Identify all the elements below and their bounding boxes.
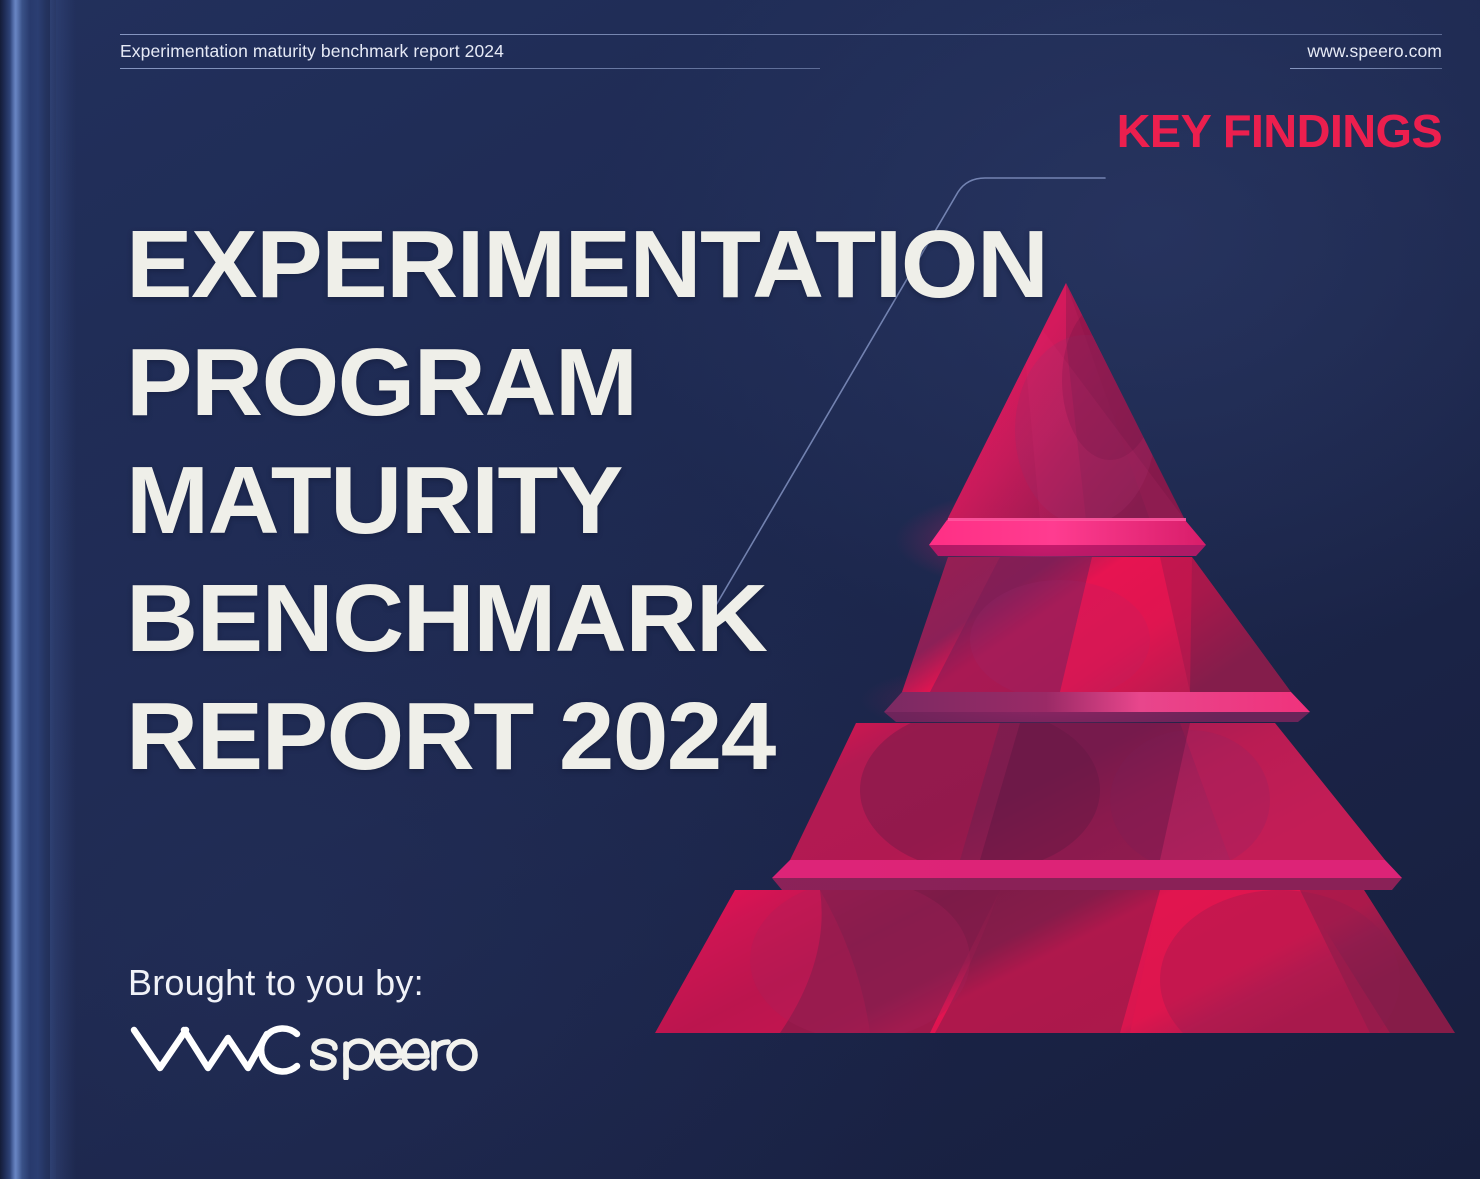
attribution-block: Brought to you by: [128,962,478,1085]
header-report-label: Experimentation maturity benchmark repor… [120,41,504,62]
vwo-logo [128,1018,304,1080]
title-line-1: EXPERIMENTATION [126,206,979,324]
book-spine-highlight [10,0,22,1179]
cover-header: Experimentation maturity benchmark repor… [120,28,1442,80]
book-spine-edge [50,0,76,1179]
header-rule-bottom-left [120,68,820,69]
title-line-2: PROGRAM [126,324,979,442]
key-findings-label: KEY FINDINGS [1116,104,1442,158]
report-cover: Experimentation maturity benchmark repor… [0,0,1480,1179]
brought-to-you-by-label: Brought to you by: [128,962,478,1004]
book-spine [0,0,56,1179]
speero-logo [310,1028,478,1080]
title-line-3: MATURITY [126,442,979,560]
page-title: EXPERIMENTATION PROGRAM MATURITY BENCHMA… [126,206,946,796]
title-line-5: REPORT 2024 [126,678,979,796]
header-rule-bottom-right [1290,68,1442,69]
title-line-4: BENCHMARK [126,560,979,678]
header-rule-top [120,34,1442,35]
header-website-url[interactable]: www.speero.com [1307,41,1442,62]
pyramid-tier-4 [655,880,1455,1070]
